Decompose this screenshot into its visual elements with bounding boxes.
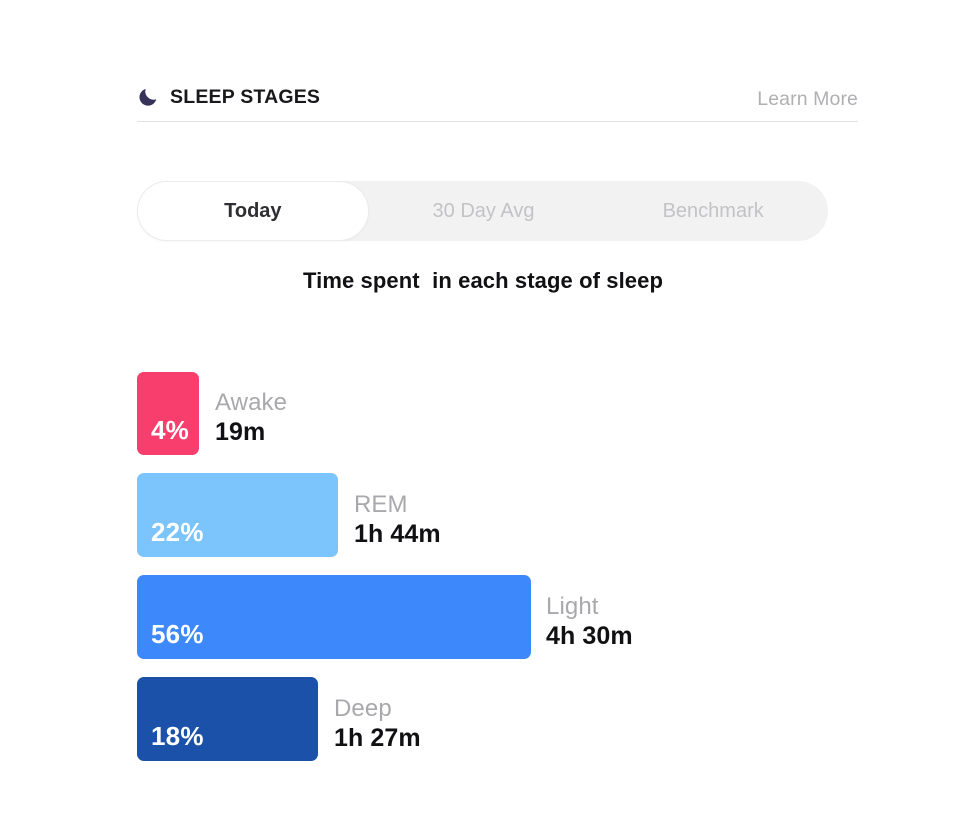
bar-row-light: 56% Light 4h 30m: [137, 575, 937, 659]
bar-light[interactable]: 56%: [137, 575, 531, 659]
bar-awake[interactable]: 4%: [137, 372, 199, 455]
bar-percent-light: 56%: [137, 621, 204, 659]
sleep-stage-bar-chart: 4% Awake 19m 22% REM 1h 44m 56% Light 4h…: [137, 372, 937, 779]
bar-labels-deep: Deep 1h 27m: [334, 695, 421, 753]
bar-labels-awake: Awake 19m: [215, 389, 287, 447]
stage-name-deep: Deep: [334, 695, 421, 723]
bar-row-rem: 22% REM 1h 44m: [137, 473, 937, 557]
stage-name-awake: Awake: [215, 389, 287, 417]
sleep-stages-card: SLEEP STAGES Learn More Today 30 Day Avg…: [0, 0, 966, 822]
bar-deep[interactable]: 18%: [137, 677, 318, 761]
bar-labels-light: Light 4h 30m: [546, 593, 633, 651]
chart-subtitle: Time spent in each stage of sleep: [0, 268, 966, 294]
bar-row-awake: 4% Awake 19m: [137, 372, 937, 455]
bar-percent-awake: 4%: [137, 417, 189, 455]
learn-more-link[interactable]: Learn More: [757, 88, 858, 110]
tab-30-day-avg[interactable]: 30 Day Avg: [369, 181, 599, 241]
stage-duration-rem: 1h 44m: [354, 519, 441, 549]
tab-today[interactable]: Today: [137, 181, 369, 241]
header-title-group: SLEEP STAGES: [137, 86, 320, 108]
timeframe-segmented-control[interactable]: Today 30 Day Avg Benchmark: [137, 181, 828, 241]
tab-benchmark[interactable]: Benchmark: [598, 181, 828, 241]
stage-duration-awake: 19m: [215, 417, 287, 447]
stage-name-rem: REM: [354, 491, 441, 519]
bar-rem[interactable]: 22%: [137, 473, 338, 557]
stage-name-light: Light: [546, 593, 633, 621]
card-header: SLEEP STAGES Learn More: [137, 84, 858, 122]
moon-icon: [137, 86, 159, 108]
page-title: SLEEP STAGES: [170, 86, 320, 108]
bar-row-deep: 18% Deep 1h 27m: [137, 677, 937, 761]
stage-duration-light: 4h 30m: [546, 621, 633, 651]
bar-labels-rem: REM 1h 44m: [354, 491, 441, 549]
stage-duration-deep: 1h 27m: [334, 723, 421, 753]
bar-percent-rem: 22%: [137, 519, 204, 557]
bar-percent-deep: 18%: [137, 723, 204, 761]
